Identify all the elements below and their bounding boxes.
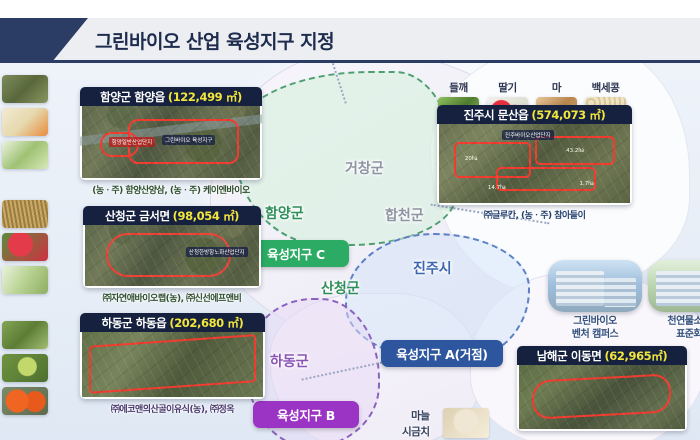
page-title: 그린바이오 산업 육성지구 지정 — [95, 27, 334, 54]
produce-thumb-plum — [2, 354, 48, 382]
produce-thumb-onion — [2, 108, 48, 136]
produce-images-bottom-middle — [443, 408, 489, 440]
map-canvas: 함양군 거창군 합천군 산청군 진주시 하동군 남해군 육성지구 C 육성지구 … — [0, 63, 700, 440]
site-map-tag-1: 함양일반산업단지 — [109, 137, 155, 147]
site-boundary-outline-b — [535, 136, 615, 165]
site-map-hamyang: 함양군 함양읍 (122,499 ㎡) 함양일반산업단지 그린바이오 육성지구 — [80, 87, 262, 180]
facility-card-venture-campus[interactable]: 그린바이오 벤처 캠퍼스 — [548, 260, 642, 341]
site-boundary-outline-a — [454, 142, 530, 178]
badge-district-c-label: 육성지구 C — [267, 244, 325, 263]
region-label-hapcheon: 합천군 — [385, 205, 424, 225]
produce-image-garlic — [443, 408, 489, 438]
produce-strip-left-group2 — [2, 200, 48, 294]
site-boundary-outline — [128, 119, 238, 164]
site-map-hadong: 하동군 하동읍 (202,680 ㎡) — [80, 313, 265, 399]
site-title-namhae: 남해군 이동면 (62,965㎡) — [517, 346, 687, 365]
site-map-tag-1: 진주바이오산업단지 — [502, 130, 554, 140]
site-title-hamyang: 함양군 함양읍 (122,499 ㎡) — [80, 87, 262, 106]
facility-card-standardization-hub[interactable]: 천연물소재 전 표준화 허 — [648, 260, 700, 341]
region-label-geochang: 거창군 — [345, 158, 384, 178]
site-card-sancheong[interactable]: 산청군 금서면 (98,054 ㎡) 산청한방항노화산업단지 ㈜자연애바이오랩(… — [83, 206, 261, 304]
site-map-jinju: 진주시 문산읍 (574,073 ㎡) 진주바이오산업단지 20㏊ 43.2㏊ … — [437, 105, 632, 205]
produce-strip-left-group1 — [2, 75, 48, 169]
site-title-namhae-text: 남해군 이동면 — [537, 348, 602, 364]
site-map-tag-3: 43.2㏊ — [563, 145, 587, 155]
site-area-jinju: (574,073 ㎡) — [531, 107, 605, 123]
site-caption-sancheong: ㈜자연애바이오랩(농), ㈜신선에프앤비 — [83, 291, 261, 304]
site-title-hadong-text: 하동군 하동읍 — [102, 315, 167, 331]
produce-label-garlic: 마늘 — [411, 409, 429, 424]
produce-thumb-herb — [2, 321, 48, 349]
facility-caption-line1: 그린바이오 — [548, 315, 642, 328]
river-overlay — [80, 111, 262, 147]
site-map-tag-5: 1.7㏊ — [577, 178, 597, 188]
site-card-hadong[interactable]: 하동군 하동읍 (202,680 ㎡) ㈜에코앤의산골이유식(농), ㈜정옥 — [80, 313, 265, 415]
facility-caption-line2: 표준화 허 — [648, 328, 700, 341]
site-map-tag-1: 산청한방항노화산업단지 — [186, 247, 248, 257]
site-area-hadong: (202,680 ㎡) — [169, 315, 243, 331]
produce-strip-left-group3 — [2, 321, 48, 415]
site-area-hamyang: (122,499 ㎡) — [168, 89, 242, 105]
infographic-page: 그린바이오 산업 육성지구 지정 함양군 거창군 합천군 산청군 진주시 하동군… — [0, 0, 700, 440]
region-label-hadong: 하동군 — [270, 351, 309, 371]
badge-district-b-label: 육성지구 B — [277, 405, 335, 424]
site-title-hadong: 하동군 하동읍 (202,680 ㎡) — [80, 313, 265, 332]
site-map-tag-4: 14.7㏊ — [485, 182, 509, 192]
site-card-hamyang[interactable]: 함양군 함양읍 (122,499 ㎡) 함양일반산업단지 그린바이오 육성지구 … — [80, 87, 262, 196]
site-caption-jinju: ㈜글루칸, (농ㆍ주) 참아들이 — [437, 208, 632, 221]
site-title-hamyang-text: 함양군 함양읍 — [100, 89, 165, 105]
produce-label-soybean: 백세콩 — [585, 80, 626, 95]
site-caption-hamyang: (농ㆍ주) 함양산양삼, (농ㆍ주) 케이엔바이오 — [80, 183, 262, 196]
site-map-tag-2: 20㏊ — [462, 153, 481, 163]
site-title-jinju: 진주시 문산읍 (574,073 ㎡) — [437, 105, 632, 124]
produce-label-yam: 마 — [536, 80, 577, 95]
badge-district-b[interactable]: 육성지구 B — [253, 401, 359, 428]
produce-list-bottom-middle: 마늘 시금치 고사리 유채 단호박 — [402, 409, 429, 440]
site-boundary-outline-c — [496, 167, 595, 192]
produce-thumb-okra — [2, 141, 48, 169]
site-card-jinju[interactable]: 진주시 문산읍 (574,073 ㎡) 진주바이오산업단지 20㏊ 43.2㏊ … — [437, 105, 632, 221]
facility-caption-line2: 벤처 캠퍼스 — [548, 328, 642, 341]
site-card-namhae[interactable]: 남해군 이동면 (62,965㎡) — [517, 346, 687, 431]
site-map-namhae: 남해군 이동면 (62,965㎡) — [517, 346, 687, 431]
produce-thumb-sesame — [2, 75, 48, 103]
site-caption-hadong: ㈜에코앤의산골이유식(농), ㈜정옥 — [80, 402, 265, 415]
produce-thumb-berry — [2, 233, 48, 261]
site-title-sancheong: 산청군 금서면 (98,054 ㎡) — [83, 206, 261, 225]
produce-label-spinach: 시금치 — [402, 425, 429, 440]
facility-image-standardization-hub — [648, 260, 700, 312]
produce-thumb-beansprout — [2, 266, 48, 294]
facility-caption-standardization-hub: 천연물소재 전 표준화 허 — [648, 315, 700, 341]
site-title-sancheong-text: 산청군 금서면 — [105, 208, 170, 224]
produce-label-perilla: 들깨 — [438, 80, 479, 95]
facility-caption-venture-campus: 그린바이오 벤처 캠퍼스 — [548, 315, 642, 341]
site-area-sancheong: (98,054 ㎡) — [173, 208, 239, 224]
badge-district-a[interactable]: 육성지구 A(거점) — [381, 340, 503, 367]
region-label-sancheong: 산청군 — [321, 278, 360, 298]
site-map-sancheong: 산청군 금서면 (98,054 ㎡) 산청한방항노화산업단지 — [83, 206, 261, 288]
produce-thumb-noodle — [2, 200, 48, 228]
badge-district-a-label: 육성지구 A(거점) — [396, 344, 487, 363]
region-label-jinju: 진주시 — [413, 258, 452, 278]
facility-image-venture-campus — [548, 260, 642, 312]
site-title-jinju-text: 진주시 문산읍 — [464, 107, 529, 123]
site-boundary-outline — [532, 374, 671, 420]
site-boundary-outline-secondary — [100, 132, 139, 157]
site-area-namhae: (62,965㎡) — [604, 348, 667, 364]
facility-caption-line1: 천연물소재 전 — [648, 315, 700, 328]
produce-label-strawberry: 딸기 — [487, 80, 528, 95]
site-boundary-outline — [106, 233, 231, 277]
site-boundary-outline — [89, 334, 256, 393]
produce-thumb-tomato — [2, 387, 48, 415]
region-label-hamyang: 함양군 — [265, 203, 304, 223]
site-map-tag-2: 그린바이오 육성지구 — [162, 135, 215, 145]
